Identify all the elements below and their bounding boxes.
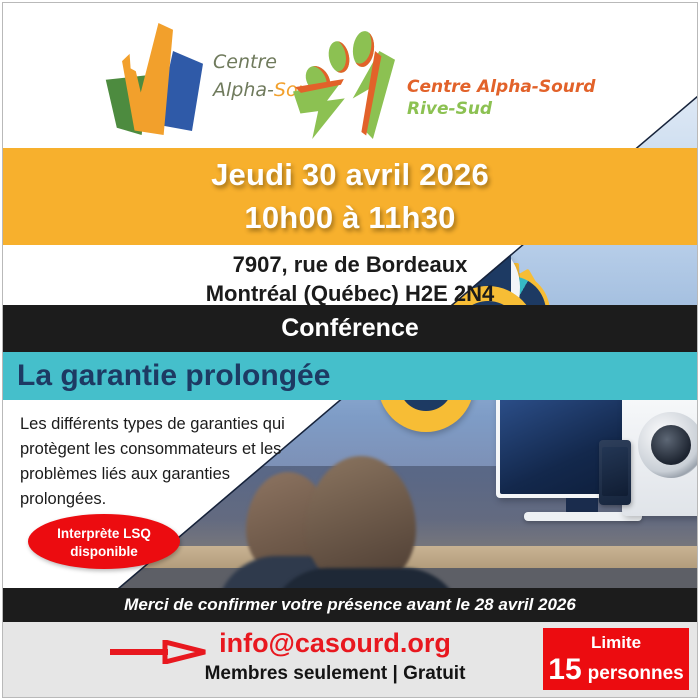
logo2-line2: Rive-Sud xyxy=(407,98,595,120)
contact-block: info@casourd.org Membres seulement | Gra… xyxy=(150,628,520,685)
capacity-unit: personnes xyxy=(588,663,684,685)
membership-terms: Membres seulement | Gratuit xyxy=(150,663,520,685)
capacity-number: 15 xyxy=(548,653,581,687)
contact-email[interactable]: info@casourd.org xyxy=(150,628,520,659)
event-address-block: 7907, rue de Bordeaux Montréal (Québec) … xyxy=(3,245,697,305)
event-kind: Conférence xyxy=(3,305,697,352)
frame-left xyxy=(2,2,3,698)
event-time: 10h00 à 11h30 xyxy=(3,197,697,240)
event-address-line2: Montréal (Québec) H2E 2N4 xyxy=(3,280,697,309)
event-title: La garantie prolongée xyxy=(3,352,697,400)
frame-top xyxy=(2,2,698,3)
logo1-line2-a: Alpha- xyxy=(213,79,274,101)
event-address-line1: 7907, rue de Bordeaux xyxy=(3,251,697,280)
event-title-band: La garantie prolongée xyxy=(3,352,697,400)
capacity-limit-box: Limite 15 personnes xyxy=(543,628,689,690)
logo-centre-alpha-sourd-rive-sud: Centre Alpha-Sourd Rive-Sud xyxy=(293,21,595,133)
logo2-line1: Centre Alpha-Sourd xyxy=(407,76,595,98)
rsvp-text: Merci de confirmer votre présence avant … xyxy=(3,588,697,622)
event-datetime-band: Jeudi 30 avril 2026 10h00 à 11h30 xyxy=(3,148,697,245)
event-poster: Centre Alpha-Sourd Centre Alpha-Sourd Ri… xyxy=(0,0,700,700)
frame-right xyxy=(697,2,698,698)
lsq-interpreter-badge: Interprète LSQ disponible xyxy=(28,514,180,569)
event-date: Jeudi 30 avril 2026 xyxy=(3,154,697,197)
smartphone-icon xyxy=(599,440,631,505)
lsq-badge-line1: Interprète LSQ xyxy=(28,525,180,543)
event-kind-band: Conférence xyxy=(3,305,697,352)
alpha-sourd-mark-icon xyxy=(103,23,203,131)
rsvp-band: Merci de confirmer votre présence avant … xyxy=(3,588,697,622)
capacity-label: Limite xyxy=(543,634,689,652)
lsq-badge-line2: disponible xyxy=(28,543,180,561)
event-description: Les différents types de garanties qui pr… xyxy=(20,412,320,512)
rive-sud-mark-icon xyxy=(293,21,399,133)
frame-bottom xyxy=(2,697,698,698)
logo-rive-sud-text: Centre Alpha-Sourd Rive-Sud xyxy=(407,76,595,120)
logo-header: Centre Alpha-Sourd Centre Alpha-Sourd Ri… xyxy=(3,3,697,148)
